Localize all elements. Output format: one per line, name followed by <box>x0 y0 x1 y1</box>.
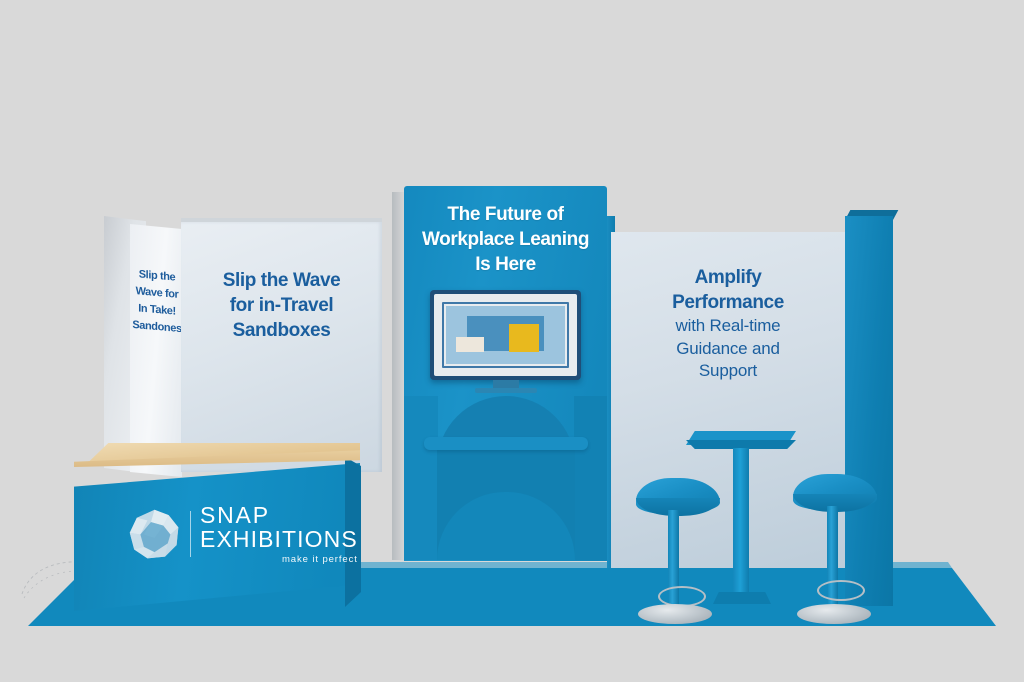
wall-mounted-screen[interactable] <box>430 290 581 380</box>
stool-base <box>797 604 871 624</box>
logo-divider <box>190 511 191 557</box>
left-return-wall-text: Slip the Wave for In Take! Sandones <box>131 266 183 339</box>
logo-wordmark: SNAP EXHIBITIONS make it perfect <box>200 504 358 565</box>
snap-exhibitions-logo: SNAP EXHIBITIONS make it perfect <box>128 498 328 570</box>
logo-line-snap: SNAP <box>200 504 358 527</box>
high-table-column <box>733 448 749 598</box>
left-wall-panel <box>181 222 382 472</box>
screen-cream-block <box>456 337 485 352</box>
podium-shelf <box>424 437 588 450</box>
screen-yellow-block <box>509 324 539 352</box>
high-table-base <box>713 592 771 604</box>
left-return-wall-face <box>130 224 182 477</box>
center-tower-left-side <box>404 396 438 560</box>
screen-display <box>446 306 565 364</box>
right-wall-headline: Amplify Performance <box>618 265 838 315</box>
logo-line-exhibitions: EXHIBITIONS <box>200 528 358 551</box>
center-tower-right-side <box>574 396 607 560</box>
stool-base <box>638 604 712 624</box>
stool-footrest-ring <box>817 580 865 601</box>
logo-tagline: make it perfect <box>200 555 358 565</box>
exhibition-stand-render: Slip the Wave for In Take! Sandones Slip… <box>0 0 1024 682</box>
right-wall-subhead: with Real-time Guidance and Support <box>618 315 838 382</box>
screen-bezel <box>434 294 577 376</box>
polygon-gem-icon <box>128 508 181 561</box>
left-wall-headline: Slip the Wave for in-Travel Sandboxes <box>186 268 377 343</box>
center-tower-headline: The Future of Workplace Leaning Is Here <box>408 202 603 277</box>
right-wall-text-block: Amplify Performance with Real-time Guida… <box>618 265 838 382</box>
screen-stand-base <box>475 388 537 393</box>
right-return-wall <box>845 216 893 606</box>
